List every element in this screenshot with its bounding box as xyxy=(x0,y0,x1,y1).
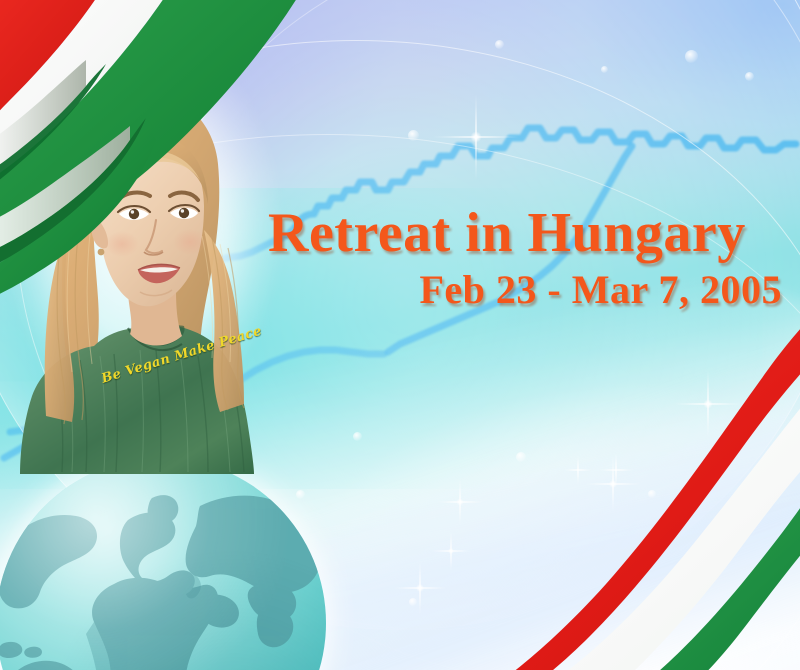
bokeh-dot-8 xyxy=(353,432,362,441)
portrait-illustration xyxy=(6,54,274,474)
portrait-woman: Be Vegan Make Peace xyxy=(6,54,274,474)
bokeh-dot-5 xyxy=(408,130,419,141)
bokeh-dot-4 xyxy=(745,72,754,81)
retreat-poster: Be Vegan Make Peace xyxy=(0,0,800,670)
bokeh-dot-9 xyxy=(409,598,417,606)
globe-sphere xyxy=(0,458,326,670)
page-title: Retreat in Hungary xyxy=(268,205,788,262)
bokeh-dot-7 xyxy=(648,490,656,498)
bokeh-dot-3 xyxy=(685,50,698,63)
globe-graphic xyxy=(0,458,326,670)
title-block: Retreat in Hungary Feb 23 - Mar 7, 2005 xyxy=(268,205,788,311)
bokeh-dot-1 xyxy=(495,40,504,49)
bokeh-dot-6 xyxy=(516,452,526,462)
bokeh-dot-2 xyxy=(601,66,608,73)
event-dates: Feb 23 - Mar 7, 2005 xyxy=(268,268,788,311)
